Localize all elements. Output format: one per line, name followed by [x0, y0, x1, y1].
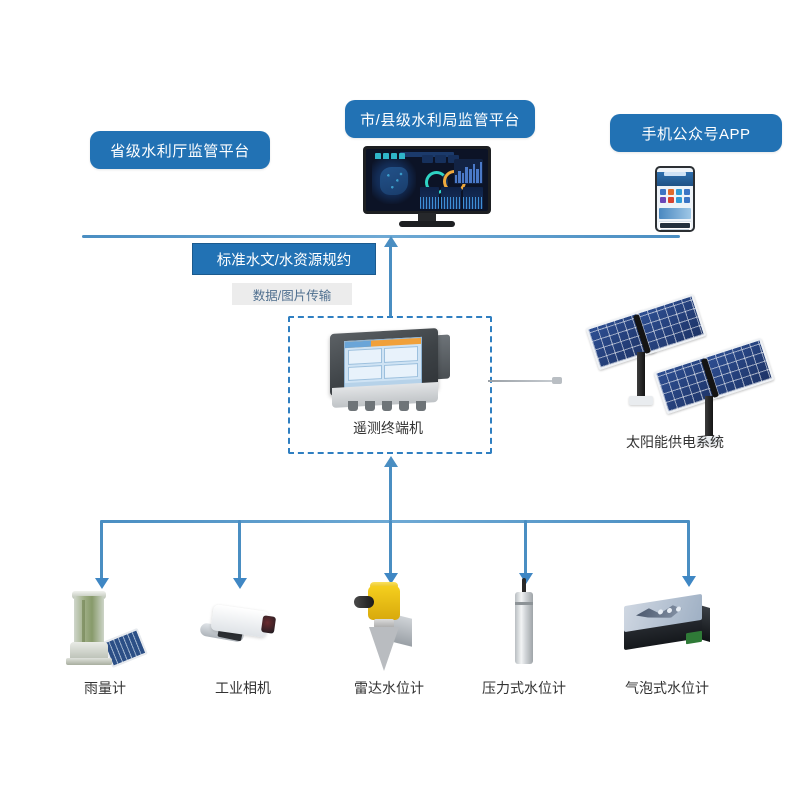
- radar-horn-antenna: [369, 627, 399, 671]
- sensor-bus-uplink-line: [389, 466, 392, 522]
- dashboard-trend-panels: [420, 187, 483, 208]
- rtu-cable-glands: [348, 401, 426, 411]
- phone-app-icon-grid: [657, 186, 693, 206]
- radar-connector: [354, 596, 374, 608]
- camera-label: 工业相机: [178, 678, 308, 698]
- terminal-label: 遥测终端机: [288, 418, 488, 438]
- rain-gauge-label: 雨量计: [40, 678, 170, 698]
- phone-tab-bar: [660, 223, 690, 228]
- uplink-arrow: [384, 236, 398, 247]
- protocol-sub-box: 数据/图片传输: [232, 283, 352, 305]
- rain-gauge-cylinder: [74, 596, 104, 646]
- platform-app-label: 手机公众号APP: [641, 123, 750, 144]
- phone-icon: [655, 166, 695, 232]
- diagram-canvas: 省级水利厅监管平台 市/县级水利局监管平台 手机公众号APP: [0, 0, 800, 800]
- phone-body: [655, 166, 695, 232]
- rtu-antenna-tip: [552, 377, 562, 384]
- radar-level-label: 雷达水位计: [324, 678, 454, 698]
- sensor-bus-line: [100, 520, 690, 523]
- solar-pole-1: [637, 352, 645, 398]
- platform-app-pill[interactable]: 手机公众号APP: [610, 114, 782, 152]
- phone-screen: [657, 168, 693, 230]
- pressure-sensor-icon: [459, 572, 589, 672]
- platform-province-label: 省级水利厅监管平台: [110, 140, 250, 161]
- platform-province-pill[interactable]: 省级水利厅监管平台: [90, 131, 270, 169]
- protocol-sub-label: 数据/图片传输: [253, 285, 331, 304]
- bubbler-level-label: 气泡式水位计: [602, 678, 732, 698]
- monitor-dashboard-screen: [366, 149, 488, 211]
- rtu-device-icon: [322, 327, 454, 411]
- bubbler-icon: [602, 576, 732, 676]
- phone-banner: [659, 208, 691, 219]
- sensor-drop-line-3: [389, 520, 392, 575]
- pressure-sensor-ring: [515, 602, 533, 605]
- bubbler-terminal-block: [686, 631, 702, 645]
- camera-lens: [261, 615, 276, 634]
- dashboard-china-map: [372, 159, 416, 204]
- rtu-display: [344, 337, 422, 389]
- protocol-label: 标准水文/水资源规约: [217, 249, 352, 270]
- sensor-drop-line-1: [100, 520, 103, 580]
- rtu-display-grid: [348, 346, 418, 381]
- monitor-icon: [363, 146, 491, 230]
- platform-bus-line: [82, 235, 680, 238]
- platform-city-label: 市/县级水利局监管平台: [360, 109, 520, 130]
- solar-base-1: [629, 396, 653, 405]
- monitor-frame: [363, 146, 491, 214]
- camera-icon: [178, 578, 308, 678]
- phone-app-header: [657, 172, 693, 186]
- monitor-stand: [399, 221, 455, 227]
- radar-level-icon: [324, 572, 454, 672]
- sensor-drop-line-4: [524, 520, 527, 575]
- sensor-drop-line-2: [238, 520, 241, 580]
- platform-city-pill[interactable]: 市/县级水利局监管平台: [345, 100, 535, 138]
- solar-power-label: 太阳能供电系统: [585, 432, 765, 452]
- rtu-antenna: [488, 380, 558, 382]
- rain-gauge-icon: [40, 578, 170, 678]
- dashboard-bar-chart: [454, 159, 483, 184]
- sensor-bus-uplink-arrow: [384, 456, 398, 467]
- sensor-drop-line-5: [687, 520, 690, 578]
- uplink-line: [389, 245, 392, 317]
- protocol-box: 标准水文/水资源规约: [192, 243, 376, 275]
- rain-gauge-foot: [66, 658, 112, 665]
- pressure-level-label: 压力式水位计: [459, 678, 589, 698]
- solar-panel-icon: [585, 300, 765, 450]
